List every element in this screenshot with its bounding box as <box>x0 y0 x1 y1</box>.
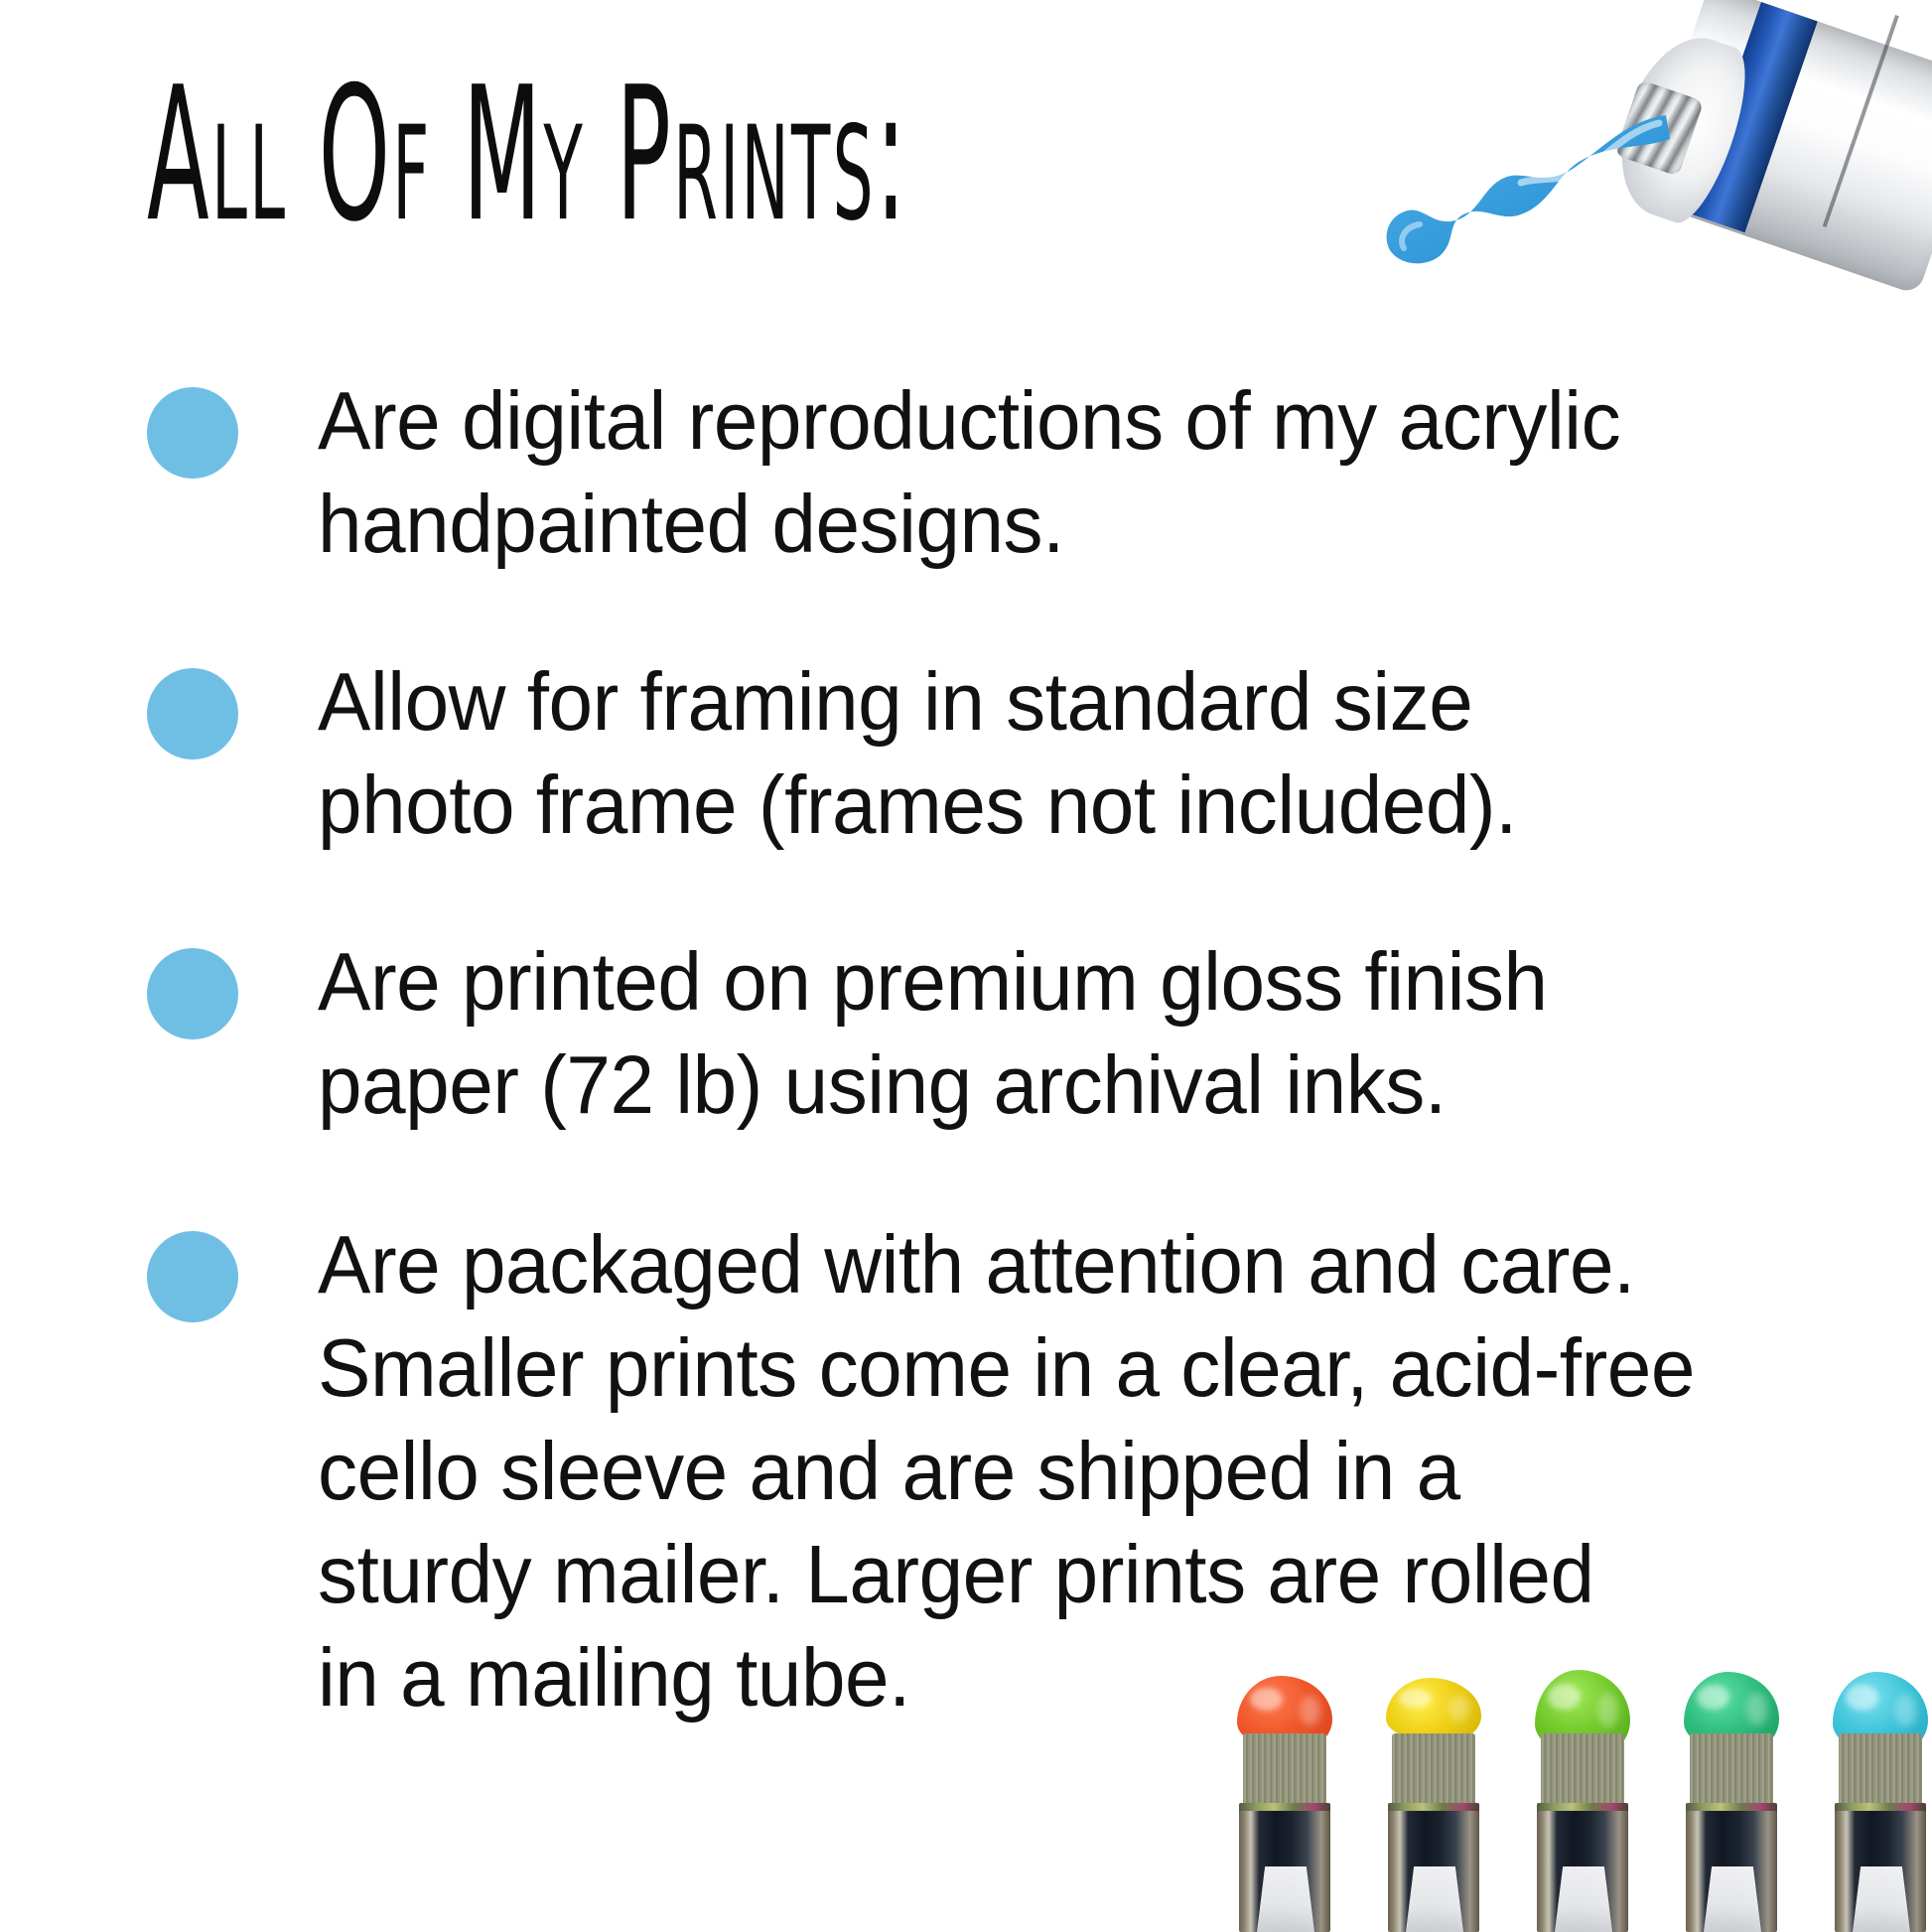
list-item-line: handpainted designs. <box>318 473 1774 576</box>
list-item-text: Allow for framing in standard size photo… <box>318 650 1774 857</box>
list-item-text: Are digital reproductions of my acrylic … <box>318 369 1774 576</box>
bullet-dot-icon <box>147 387 238 479</box>
brush-bristles <box>1392 1733 1475 1807</box>
paint-brush <box>1382 1680 1485 1932</box>
prints-info-list: Are digital reproductions of my acrylic … <box>0 0 1932 1932</box>
list-item-text: Are printed on premium gloss finish pape… <box>318 930 1774 1137</box>
brush-ferrule <box>1835 1811 1926 1932</box>
paint-brush <box>1680 1680 1783 1932</box>
list-item-line: photo frame (frames not included). <box>318 754 1774 857</box>
brush-bristles <box>1690 1733 1773 1807</box>
bullet-dot-icon <box>147 948 238 1039</box>
brush-bristles <box>1839 1733 1922 1807</box>
list-item-line: paper (72 lb) using archival inks. <box>318 1034 1774 1137</box>
list-item-line: Are packaged with attention and care. <box>318 1213 1774 1316</box>
paint-brush <box>1829 1680 1932 1932</box>
list-item-line: Are printed on premium gloss finish <box>318 930 1774 1034</box>
paint-brush <box>1531 1680 1634 1932</box>
brush-ferrule <box>1686 1811 1777 1932</box>
list-item-line: Are digital reproductions of my acrylic <box>318 369 1774 473</box>
brush-bristles <box>1541 1733 1624 1807</box>
poster-canvas: All Of My Prints: Are digital reproducti… <box>0 0 1932 1932</box>
brush-ferrule <box>1239 1811 1330 1932</box>
brush-ferrule <box>1388 1811 1479 1932</box>
paint-brush <box>1233 1680 1336 1932</box>
list-item-text: Are packaged with attention and care. Sm… <box>318 1213 1774 1729</box>
list-item-line: Smaller prints come in a clear, acid-fre… <box>318 1316 1774 1420</box>
bullet-dot-icon <box>147 1231 238 1322</box>
list-item-line: sturdy mailer. Larger prints are rolled <box>318 1523 1774 1626</box>
list-item-line: Allow for framing in standard size <box>318 650 1774 754</box>
bullet-dot-icon <box>147 668 238 759</box>
brush-ferrule <box>1537 1811 1628 1932</box>
paint-brush-row <box>1233 1680 1932 1932</box>
list-item-line: cello sleeve and are shipped in a <box>318 1420 1774 1523</box>
brush-bristles <box>1243 1733 1326 1807</box>
